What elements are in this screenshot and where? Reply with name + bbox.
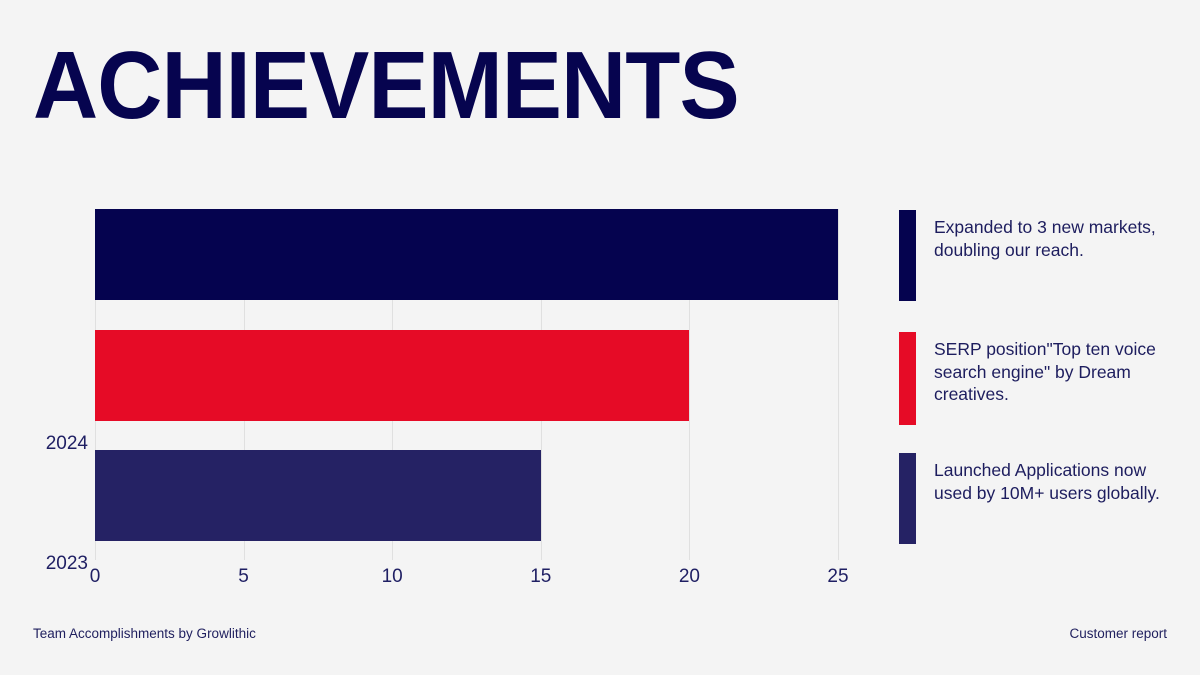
x-tick-label-20: 20 — [659, 566, 719, 588]
list-item: Launched Applications now used by 10M+ u… — [899, 453, 1171, 544]
table-row — [95, 450, 838, 541]
legend-label-2022: Launched Applications now used by 10M+ u… — [934, 453, 1166, 504]
x-axis: 0510152025 — [95, 566, 838, 596]
legend-label-2024: Expanded to 3 new markets, doubling our … — [934, 210, 1166, 261]
footer-caption-right: Customer report — [1069, 625, 1167, 643]
legend: Expanded to 3 new markets, doubling our … — [899, 206, 1179, 556]
x-tick-label-10: 10 — [362, 566, 422, 588]
list-item: SERP position"Top ten voice search engin… — [899, 332, 1171, 425]
list-item: Expanded to 3 new markets, doubling our … — [899, 210, 1171, 301]
bar-chart: 2024 2023 2022 0510152025 — [0, 190, 880, 580]
table-row — [95, 209, 838, 300]
footer-caption-left: Team Accomplishments by Growlithic — [33, 625, 256, 643]
bars-layer — [95, 209, 838, 560]
x-tick-label-0: 0 — [65, 566, 125, 588]
legend-swatch-2023 — [899, 332, 916, 425]
y-axis: 2024 2023 2022 — [0, 190, 88, 580]
bar-2022[interactable] — [95, 450, 541, 541]
y-tick-label-2024: 2024 — [16, 434, 88, 454]
bar-2023[interactable] — [95, 330, 689, 421]
x-tick-label-5: 5 — [214, 566, 274, 588]
x-tick-label-25: 25 — [808, 566, 868, 588]
bar-2024[interactable] — [95, 209, 838, 300]
legend-swatch-2024 — [899, 210, 916, 301]
legend-swatch-2022 — [899, 453, 916, 544]
page-title: ACHIEVEMENTS — [33, 34, 739, 138]
table-row — [95, 330, 838, 421]
plot-area — [95, 209, 838, 560]
legend-label-2023: SERP position"Top ten voice search engin… — [934, 332, 1166, 406]
x-tick-label-15: 15 — [511, 566, 571, 588]
gridline-25 — [838, 209, 839, 560]
